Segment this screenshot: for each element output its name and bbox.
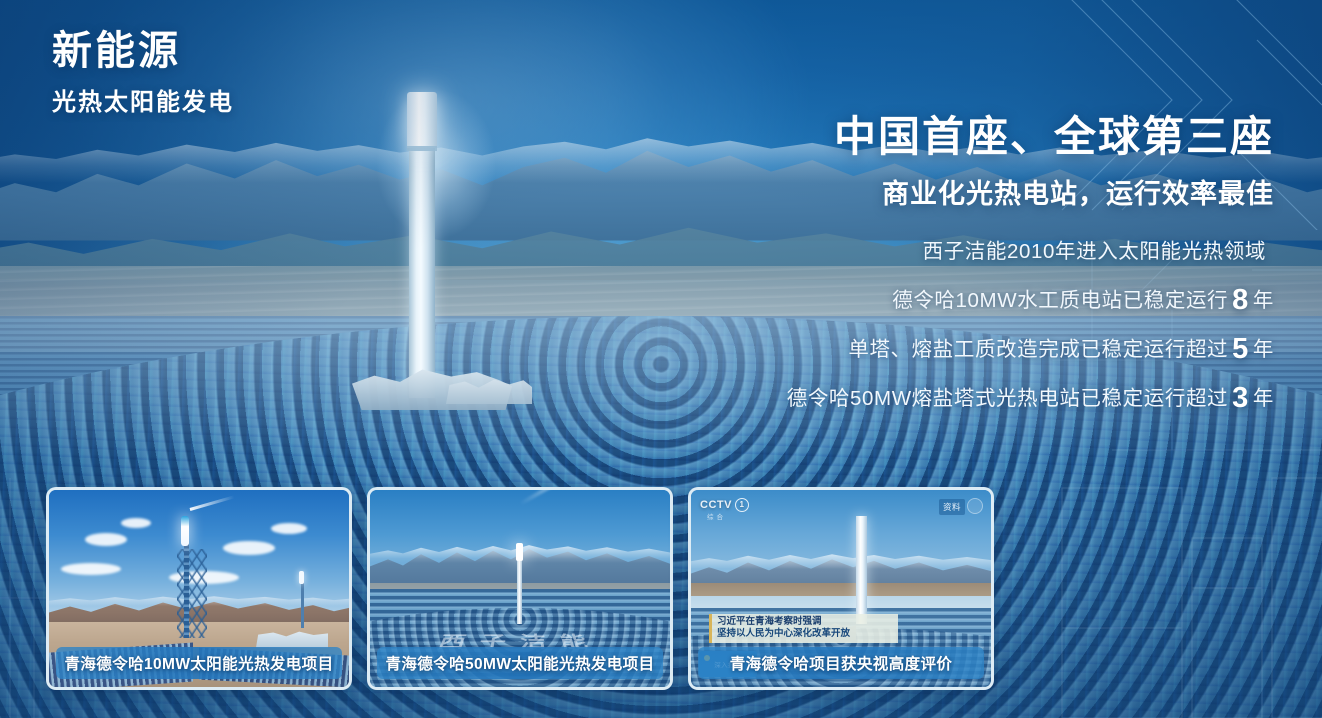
card1-lattice-tower-bracing — [177, 549, 207, 638]
card1-secondary-receiver — [299, 571, 304, 584]
fact-list: 西子洁能2010年进入太阳能光热领域 德令哈10MW水工质电站已稳定运行8年 单… — [654, 237, 1274, 413]
slide-root: 新能源 光热太阳能发电 中国首座、全球第三座 商业化光热电站，运行效率最佳 西子… — [0, 0, 1322, 718]
page-subtitle: 光热太阳能发电 — [52, 82, 234, 117]
fact-item: 单塔、熔盐工质改造完成已稳定运行超过5年 — [654, 335, 1274, 364]
watermark-circle-icon — [967, 498, 983, 514]
cctv-logo-icon: CCTV 1 — [700, 498, 749, 512]
project-card-cctv[interactable]: CCTV 1 综合 资料 习近平在青海考察时强调 坚持以人民为中心深化改革开放 … — [688, 487, 994, 690]
fact-item: 德令哈10MW水工质电站已稳定运行8年 — [654, 286, 1274, 315]
headline-primary: 中国首座、全球第三座 — [654, 112, 1274, 162]
card1-cloud — [121, 518, 151, 528]
page-title-block: 新能源 光热太阳能发电 — [52, 28, 234, 117]
news-chyron-line1: 习近平在青海考察时强调 — [717, 616, 893, 628]
card1-cloud — [61, 563, 121, 575]
card3-tower — [856, 516, 867, 624]
fact-number: 5 — [1228, 333, 1253, 365]
news-chyron-line2: 坚持以人民为中心深化改革开放 — [717, 628, 893, 640]
fact-item: 西子洁能2010年进入太阳能光热领域 — [654, 237, 1274, 266]
project-card-50mw[interactable]: 西子洁能 青海德令哈50MW太阳能光热发电项目 — [367, 487, 673, 690]
fact-text: 德令哈10MW水工质电站已稳定运行 — [892, 289, 1228, 312]
headline-block: 中国首座、全球第三座 商业化光热电站，运行效率最佳 西子洁能2010年进入太阳能… — [654, 112, 1274, 413]
fact-number: 8 — [1228, 284, 1253, 316]
card1-secondary-tower — [301, 577, 304, 628]
card2-receiver — [516, 543, 523, 561]
news-chyron: 习近平在青海考察时强调 坚持以人民为中心深化改革开放 — [709, 614, 898, 643]
cctv-logo-text: CCTV — [700, 499, 732, 511]
corner-blocks-decoration-icon — [992, 468, 1322, 718]
fact-text: 西子洁能2010年进入太阳能光热领域 — [923, 240, 1266, 263]
fact-unit: 年 — [1253, 289, 1274, 312]
page-title: 新能源 — [52, 28, 234, 74]
cctv-channel-number: 1 — [735, 498, 749, 512]
fact-text: 单塔、熔盐工质改造完成已稳定运行超过 — [848, 338, 1228, 361]
fact-unit: 年 — [1253, 338, 1274, 361]
cctv-channel-sub: 综合 — [707, 511, 726, 521]
project-thumbnail-row: 青海德令哈10MW太阳能光热发电项目 西子洁能 青海德令哈50MW太阳能光热发电… — [46, 487, 994, 690]
card1-receiver — [181, 516, 189, 546]
fact-item: 德令哈50MW熔盐塔式光热电站已稳定运行超过3年 — [654, 384, 1274, 413]
fact-text: 德令哈50MW熔盐塔式光热电站已稳定运行超过 — [787, 387, 1228, 410]
fact-number — [1266, 235, 1274, 267]
fact-number: 3 — [1228, 382, 1253, 414]
project-card-10mw[interactable]: 青海德令哈10MW太阳能光热发电项目 — [46, 487, 352, 690]
headline-secondary: 商业化光热电站，运行效率最佳 — [654, 172, 1274, 211]
project-card-caption: 青海德令哈项目获央视高度评价 — [698, 647, 984, 679]
archive-footage-badge: 资料 — [939, 499, 965, 515]
fact-unit: 年 — [1253, 387, 1274, 410]
project-card-caption: 青海德令哈10MW太阳能光热发电项目 — [56, 647, 342, 679]
project-card-caption: 青海德令哈50MW太阳能光热发电项目 — [377, 647, 663, 679]
